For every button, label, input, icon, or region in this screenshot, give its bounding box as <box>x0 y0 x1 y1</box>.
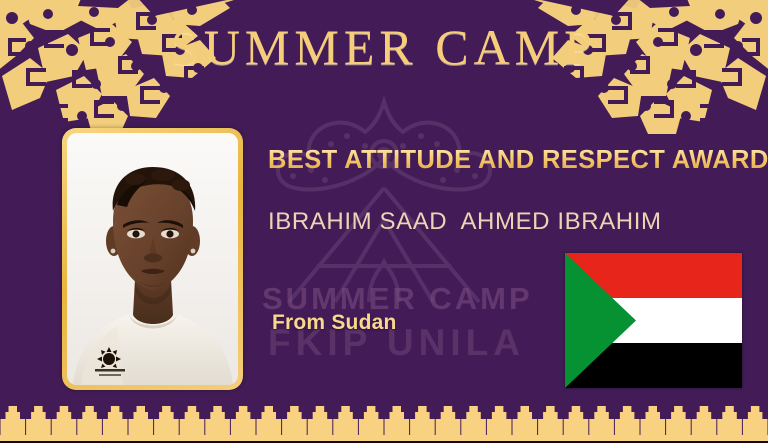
sudan-flag <box>565 253 742 388</box>
crenellated-border-icon <box>0 397 768 443</box>
portrait-photo <box>67 133 238 385</box>
sudan-flag-icon <box>565 253 742 388</box>
portrait-photo-frame <box>62 128 243 390</box>
recipient-name: IBRAHIM SAAD AHMED IBRAHIM <box>268 208 662 236</box>
certificate-card: SUMMER CAMP FKIP UNILA SUMMER CAMP <box>0 0 768 443</box>
portrait-photo-icon <box>67 133 238 385</box>
award-title: BEST ATTITUDE AND RESPECT AWARD <box>268 146 768 175</box>
crenellated-bottom-border <box>0 397 768 443</box>
crown-triangle-emblem-icon <box>269 92 499 307</box>
page-title: SUMMER CAMP <box>0 18 768 76</box>
from-country-label: From Sudan <box>272 311 397 335</box>
